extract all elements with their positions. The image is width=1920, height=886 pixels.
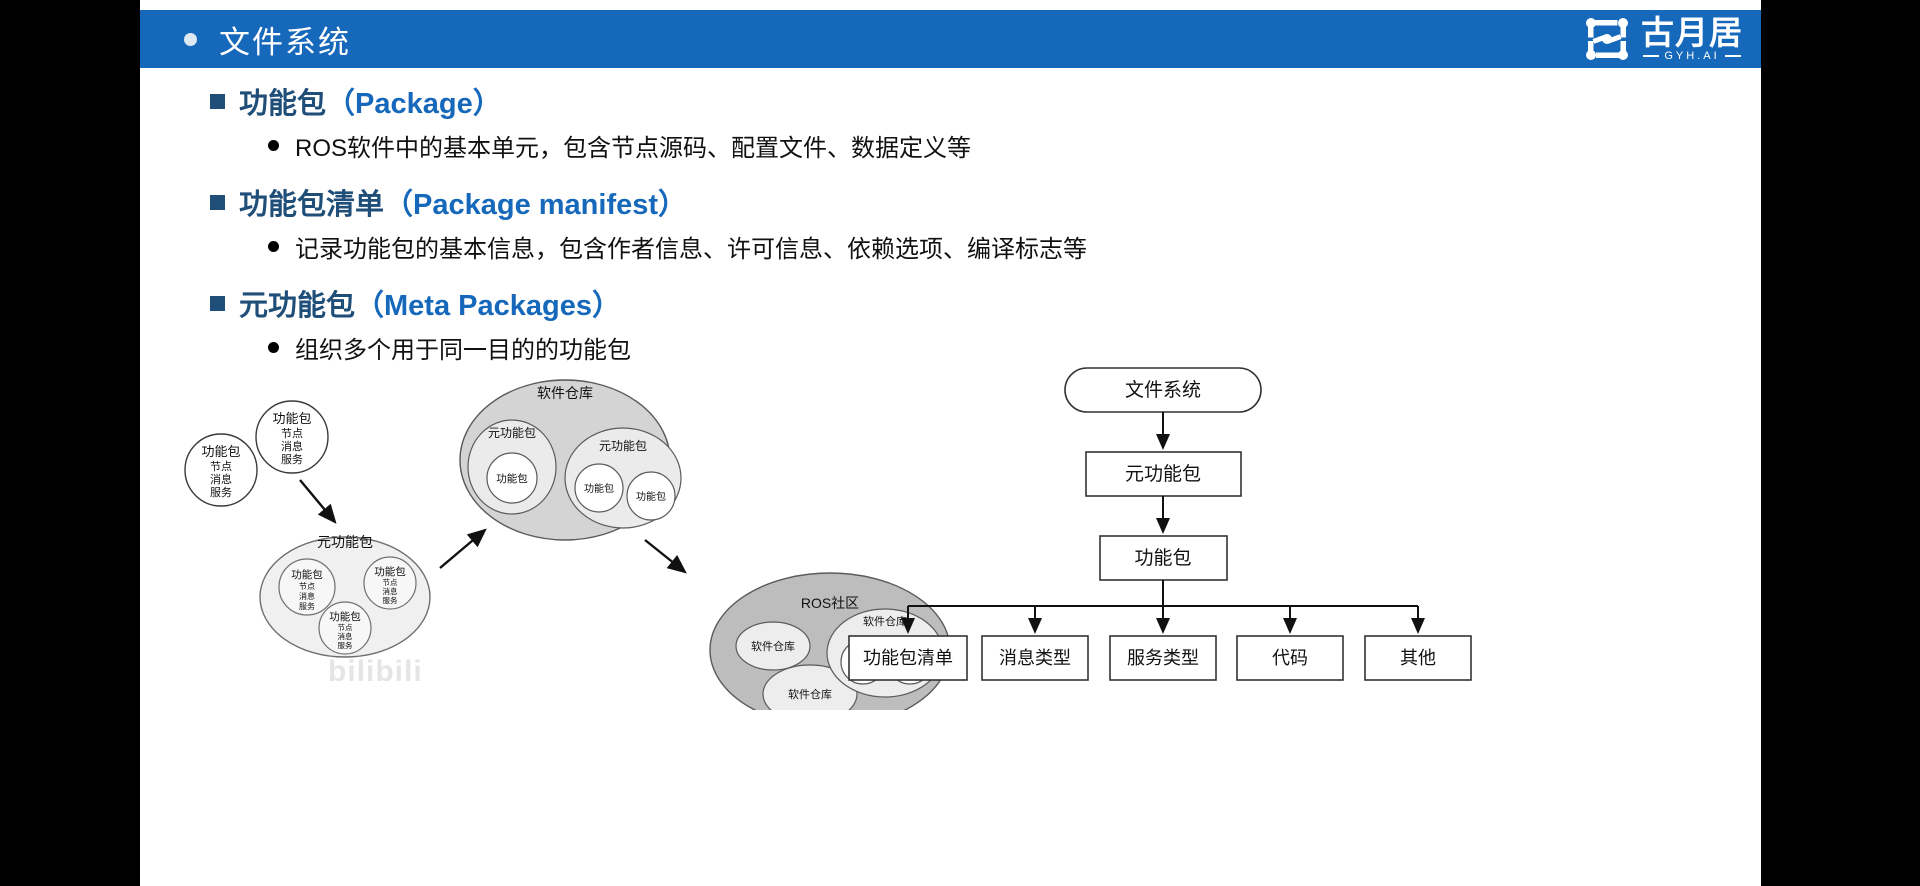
bullet-dot-icon [184,33,197,46]
section-package-manifest: 功能包清单（Package manifest） 记录功能包的基本信息，包含作者信… [140,181,1761,264]
heading-en: （Package manifest） [384,189,687,221]
square-bullet-icon [210,94,225,109]
square-bullet-icon [210,296,225,311]
screenshot-root: 文件系统 [0,0,1920,886]
package-line: 消息 [281,439,303,453]
package-line: 节点 [299,582,315,591]
heading-cn: 功能包清单 [239,189,384,221]
tree-leaf-label: 消息类型 [999,648,1071,668]
package-line: 消息 [210,472,232,486]
package-line: 服务 [281,453,303,466]
section-subbullet: ROS软件中的基本单元，包含节点源码、配置文件、数据定义等 [140,128,1761,163]
left-package-diagram: 功能包 节点 消息 服务 功能包 节点 消息 服务 元功能包 功能包 节点 消息 [185,401,485,657]
package-line: 服务 [210,486,232,499]
package-line: 服务 [299,601,315,611]
round-bullet-icon [268,140,279,151]
arrow-package-to-meta [300,480,335,522]
tree-meta-label: 元功能包 [1125,463,1201,485]
meta-package-title: 元功能包 [599,439,647,453]
slide-content: 功能包（Package） ROS软件中的基本单元，包含节点源码、配置文件、数据定… [140,80,1761,383]
section-subbullet-text: 记录功能包的基本信息，包含作者信息、许可信息、依赖选项、编译标志等 [295,229,1087,264]
package-line: 节点 [338,623,353,632]
section-heading-text: 功能包（Package） [239,80,502,122]
package-title: 功能包 [201,444,240,459]
package-line: 消息 [338,631,353,641]
tree-root-label: 文件系统 [1125,379,1201,401]
package-line: 节点 [383,578,398,587]
brand-logo-text: 古月居 GYH.AI [1641,16,1743,63]
page-title: 文件系统 [219,17,351,62]
brand-name-en-text: GYH.AI [1664,50,1719,63]
heading-en: （Package） [326,88,502,120]
tree-leaf-label: 功能包清单 [863,648,953,668]
repository-title: 软件仓库 [788,687,832,701]
section-heading: 元功能包（Meta Packages） [140,282,1761,324]
gyh-network-logo-icon [1582,14,1632,64]
package-title: 功能包 [291,568,323,581]
section-heading-text: 元功能包（Meta Packages） [239,282,621,324]
slide-header: 文件系统 [140,10,1761,68]
section-package: 功能包（Package） ROS软件中的基本单元，包含节点源码、配置文件、数据定… [140,80,1761,163]
heading-cn: 功能包 [239,88,326,120]
repository-title: 软件仓库 [863,614,907,628]
brand-name-cn: 古月居 [1641,16,1743,50]
tree-leaf-label: 服务类型 [1127,648,1199,668]
section-subbullet-text: ROS软件中的基本单元，包含节点源码、配置文件、数据定义等 [295,128,971,163]
package-line: 节点 [281,427,303,440]
slide: 文件系统 [140,0,1761,886]
community-title: ROS社区 [801,595,859,611]
brand-name-en: GYH.AI [1643,50,1740,63]
meta-package-title: 元功能包 [488,426,536,440]
brand-logo: 古月居 GYH.AI [1582,14,1743,64]
package-line: 节点 [210,460,232,473]
package-line: 服务 [383,595,398,605]
package-line: 服务 [338,640,353,650]
arrow-meta-to-repo [440,530,485,568]
package-title: 功能包 [272,411,311,426]
repository-title: 软件仓库 [537,385,593,401]
square-bullet-icon [210,195,225,210]
package-title: 功能包 [584,482,614,495]
tree-leaf-label: 代码 [1272,648,1308,668]
package-title: 功能包 [636,490,666,503]
meta-package-title: 元功能包 [317,534,373,550]
round-bullet-icon [268,241,279,252]
arrow-repo-to-community [645,540,685,572]
package-title: 功能包 [374,565,406,578]
tree-leaf-label: 其他 [1400,648,1436,668]
section-heading: 功能包（Package） [140,80,1761,122]
section-heading-text: 功能包清单（Package manifest） [239,181,687,223]
package-title: 功能包 [496,472,528,485]
rule-left [1643,55,1659,57]
repository-diagram: 软件仓库 元功能包 功能包 元功能包 功能包 功能包 [460,380,685,572]
package-line: 消息 [299,591,315,601]
tree-package-label: 功能包 [1134,547,1191,569]
section-subbullet: 记录功能包的基本信息，包含作者信息、许可信息、依赖选项、编译标志等 [140,229,1761,264]
heading-cn: 元功能包 [239,290,355,322]
package-line: 消息 [383,586,398,596]
repository-title: 软件仓库 [751,639,795,653]
heading-en: （Meta Packages） [355,290,621,322]
section-heading: 功能包清单（Package manifest） [140,181,1761,223]
watermark: bilibili [328,655,423,689]
rule-right [1725,55,1741,57]
package-title: 功能包 [329,610,361,623]
